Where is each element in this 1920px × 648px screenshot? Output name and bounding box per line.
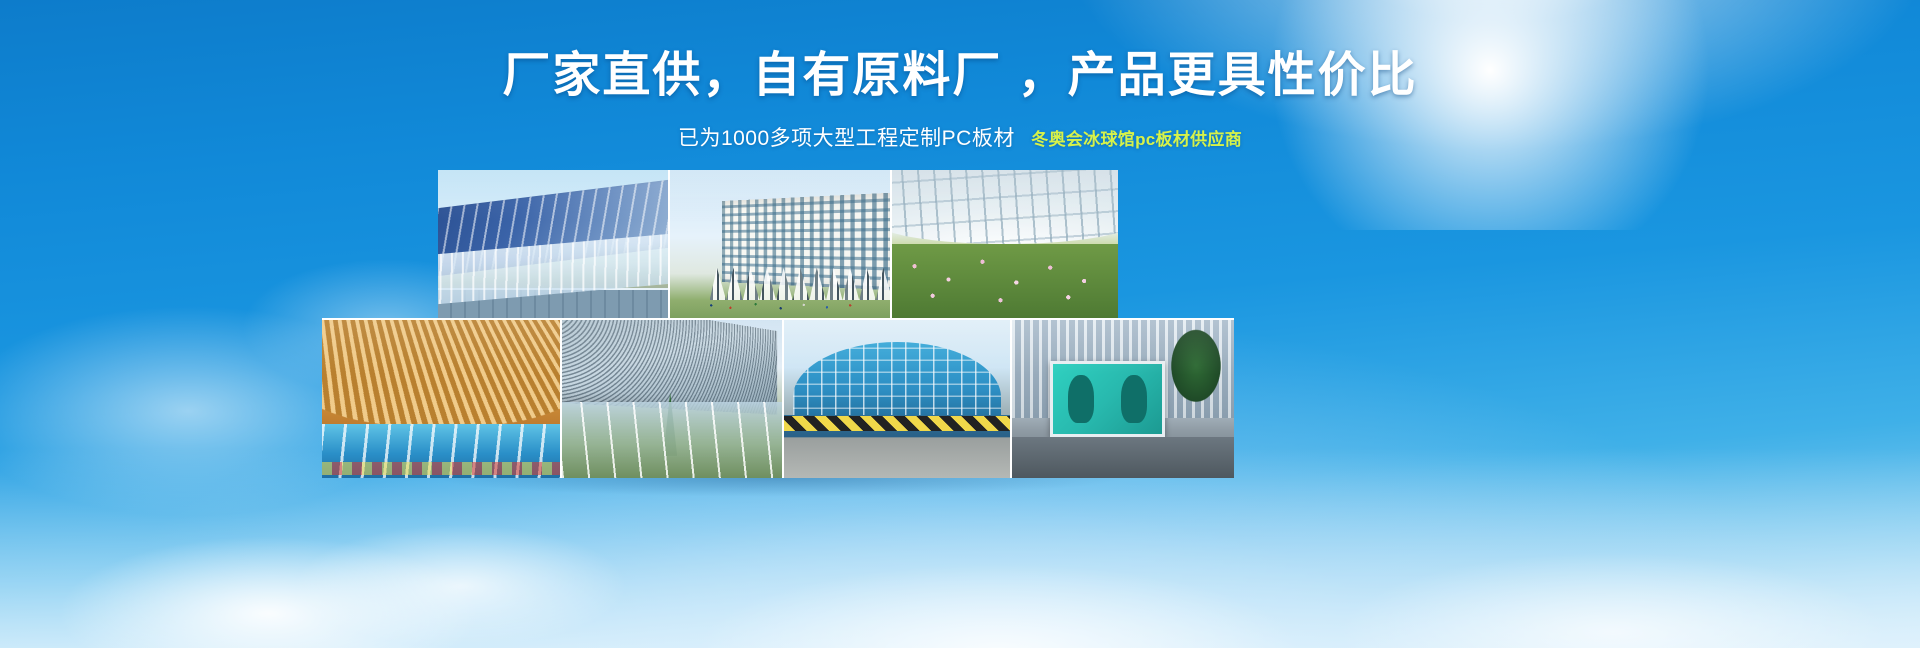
pool-roof-scene [322, 320, 560, 478]
promo-banner: 厂家直供，自有原料厂 ，产品更具性价比 已为1000多项大型工程定制PC板材 冬… [0, 0, 1920, 648]
collage-top-row [438, 170, 1118, 318]
street-tree [1167, 329, 1225, 421]
facade-scene [670, 170, 890, 318]
collage-image-blue-vaulted-canopy[interactable] [784, 318, 1012, 478]
greenhouse-scene [438, 170, 668, 318]
pool-lane-markers [322, 462, 560, 475]
sun-glow-decoration [1230, 0, 1750, 230]
collage-image-arch-greenhouse-flowers[interactable] [892, 170, 1118, 318]
hazard-stripe-curb [784, 416, 1010, 430]
street-road [1012, 437, 1234, 478]
flower-greenhouse-scene [892, 170, 1118, 318]
pedestrians-decoration [688, 291, 882, 315]
billboard-panel [1050, 361, 1165, 437]
collage-image-perforated-noise-barrier[interactable] [562, 318, 784, 478]
banner-headline: 厂家直供，自有原料厂 ，产品更具性价比 [502, 48, 1417, 105]
collage-image-patterned-facade-building[interactable] [670, 170, 892, 318]
collage-image-blue-roof-greenhouse[interactable] [438, 170, 670, 318]
noise-barrier-scene [562, 320, 782, 478]
collage-bottom-row [322, 318, 1234, 478]
bus-shelter-scene [1012, 320, 1234, 478]
collage-image-city-bus-shelter-billboard[interactable] [1012, 318, 1234, 478]
greenhouse-base [438, 288, 668, 318]
blue-canopy-scene [784, 320, 1010, 478]
subtitle-container: 已为1000多项大型工程定制PC板材 冬奥会冰球馆pc板材供应商 [0, 122, 1920, 152]
headline-container: 厂家直供，自有原料厂 ，产品更具性价比 [0, 48, 1920, 105]
banner-subtitle: 已为1000多项大型工程定制PC板材 [678, 127, 1015, 150]
banner-subtitle-accent: 冬奥会冰球馆pc板材供应商 [1031, 130, 1242, 149]
roadside-tree [663, 393, 677, 456]
collage-drop-shadow [322, 478, 1234, 504]
collage-image-wooden-lattice-pool-roof[interactable] [322, 318, 562, 478]
